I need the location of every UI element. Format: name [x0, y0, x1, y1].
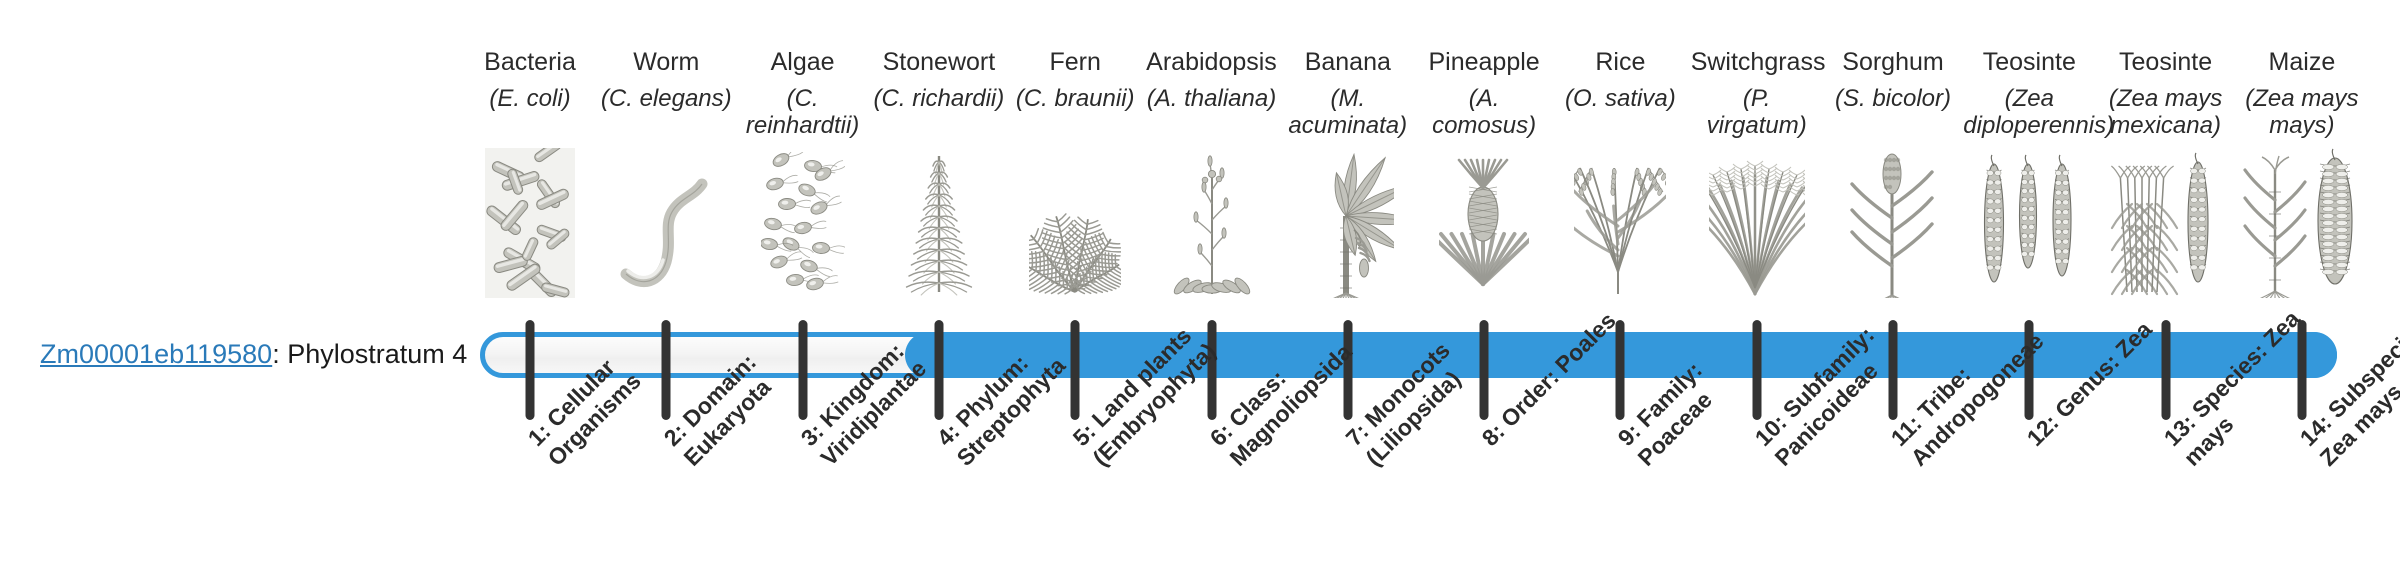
species-common-name: Banana: [1282, 48, 1414, 78]
tick-mark-9[interactable]: [1616, 320, 1625, 420]
species-scientific-name: (Zea mays mexicana): [2100, 85, 2232, 141]
species-column-11: Sorghum(S. bicolor): [1827, 48, 1959, 112]
species-scientific-name: (C. reinhardtii): [737, 85, 869, 141]
gene-phylostratum-label: Zm00001eb119580: Phylostratum 4: [40, 338, 460, 370]
species-column-9: Rice(O. sativa): [1554, 48, 1686, 112]
phylostratum-value: Phylostratum 4: [287, 339, 467, 369]
fern-icon: [1005, 170, 1145, 298]
algae-icon: [733, 170, 873, 298]
species-column-2: Worm(C. elegans): [600, 48, 732, 112]
bacteria-icon: [460, 170, 600, 298]
species-common-name: Worm: [600, 48, 732, 78]
arabidopsis-icon: [1142, 170, 1282, 298]
species-common-name: Algae: [737, 48, 869, 78]
banana-icon: [1278, 170, 1418, 298]
tick-mark-1[interactable]: [526, 320, 535, 420]
species-column-5: Fern(C. braunii): [1009, 48, 1141, 112]
gene-id-link[interactable]: Zm00001eb119580: [40, 339, 272, 369]
species-column-6: Arabidopsis(A. thaliana): [1146, 48, 1278, 112]
species-scientific-name: (S. bicolor): [1827, 85, 1959, 113]
species-scientific-name: (O. sativa): [1554, 85, 1686, 113]
species-column-1: Bacteria(E. coli): [464, 48, 596, 112]
teosinte-mex-icon: [2096, 170, 2236, 298]
species-scientific-name: (Zea mays mays): [2236, 85, 2368, 141]
maize-icon: [2232, 170, 2372, 298]
species-scientific-name: (C. braunii): [1009, 85, 1141, 113]
species-column-8: Pineapple(A. comosus): [1418, 48, 1550, 140]
species-column-14: Maize(Zea mays mays): [2236, 48, 2368, 140]
species-common-name: Switchgrass: [1691, 48, 1823, 78]
species-scientific-name: (A. thaliana): [1146, 85, 1278, 113]
species-common-name: Maize: [2236, 48, 2368, 78]
species-scientific-name: (A. comosus): [1418, 85, 1550, 141]
pineapple-icon: [1414, 170, 1554, 298]
species-common-name: Fern: [1009, 48, 1141, 78]
species-common-name: Bacteria: [464, 48, 596, 78]
species-column-3: Algae(C. reinhardtii): [737, 48, 869, 140]
species-common-name: Pineapple: [1418, 48, 1550, 78]
species-scientific-name: (C. elegans): [600, 85, 732, 113]
teosinte-diplo-icon: [1959, 170, 2099, 298]
phylostratum-figure: Zm00001eb119580: Phylostratum 4 Bacteria…: [0, 0, 2400, 580]
species-scientific-name: (P. virgatum): [1691, 85, 1823, 141]
switchgrass-icon: [1687, 170, 1827, 298]
species-common-name: Stonewort: [873, 48, 1005, 78]
species-column-13: Teosinte(Zea mays mexicana): [2100, 48, 2232, 140]
species-scientific-name: (C. richardii): [873, 85, 1005, 113]
rice-icon: [1550, 170, 1690, 298]
species-column-12: Teosinte(Zea diploperennis): [1963, 48, 2095, 140]
species-common-name: Teosinte: [2100, 48, 2232, 78]
stonewort-icon: [869, 170, 1009, 298]
tick-mark-13[interactable]: [2161, 320, 2170, 420]
species-scientific-name: (M. acuminata): [1282, 85, 1414, 141]
species-scientific-name: (E. coli): [464, 85, 596, 113]
worm-icon: [596, 170, 736, 298]
species-common-name: Teosinte: [1963, 48, 2095, 78]
species-column-7: Banana(M. acuminata): [1282, 48, 1414, 140]
gene-label-separator: :: [272, 339, 287, 369]
species-common-name: Rice: [1554, 48, 1686, 78]
sorghum-icon: [1823, 170, 1963, 298]
species-common-name: Arabidopsis: [1146, 48, 1278, 78]
species-scientific-name: (Zea diploperennis): [1963, 85, 2095, 141]
species-common-name: Sorghum: [1827, 48, 1959, 78]
species-column-10: Switchgrass(P. virgatum): [1691, 48, 1823, 140]
species-column-4: Stonewort(C. richardii): [873, 48, 1005, 112]
